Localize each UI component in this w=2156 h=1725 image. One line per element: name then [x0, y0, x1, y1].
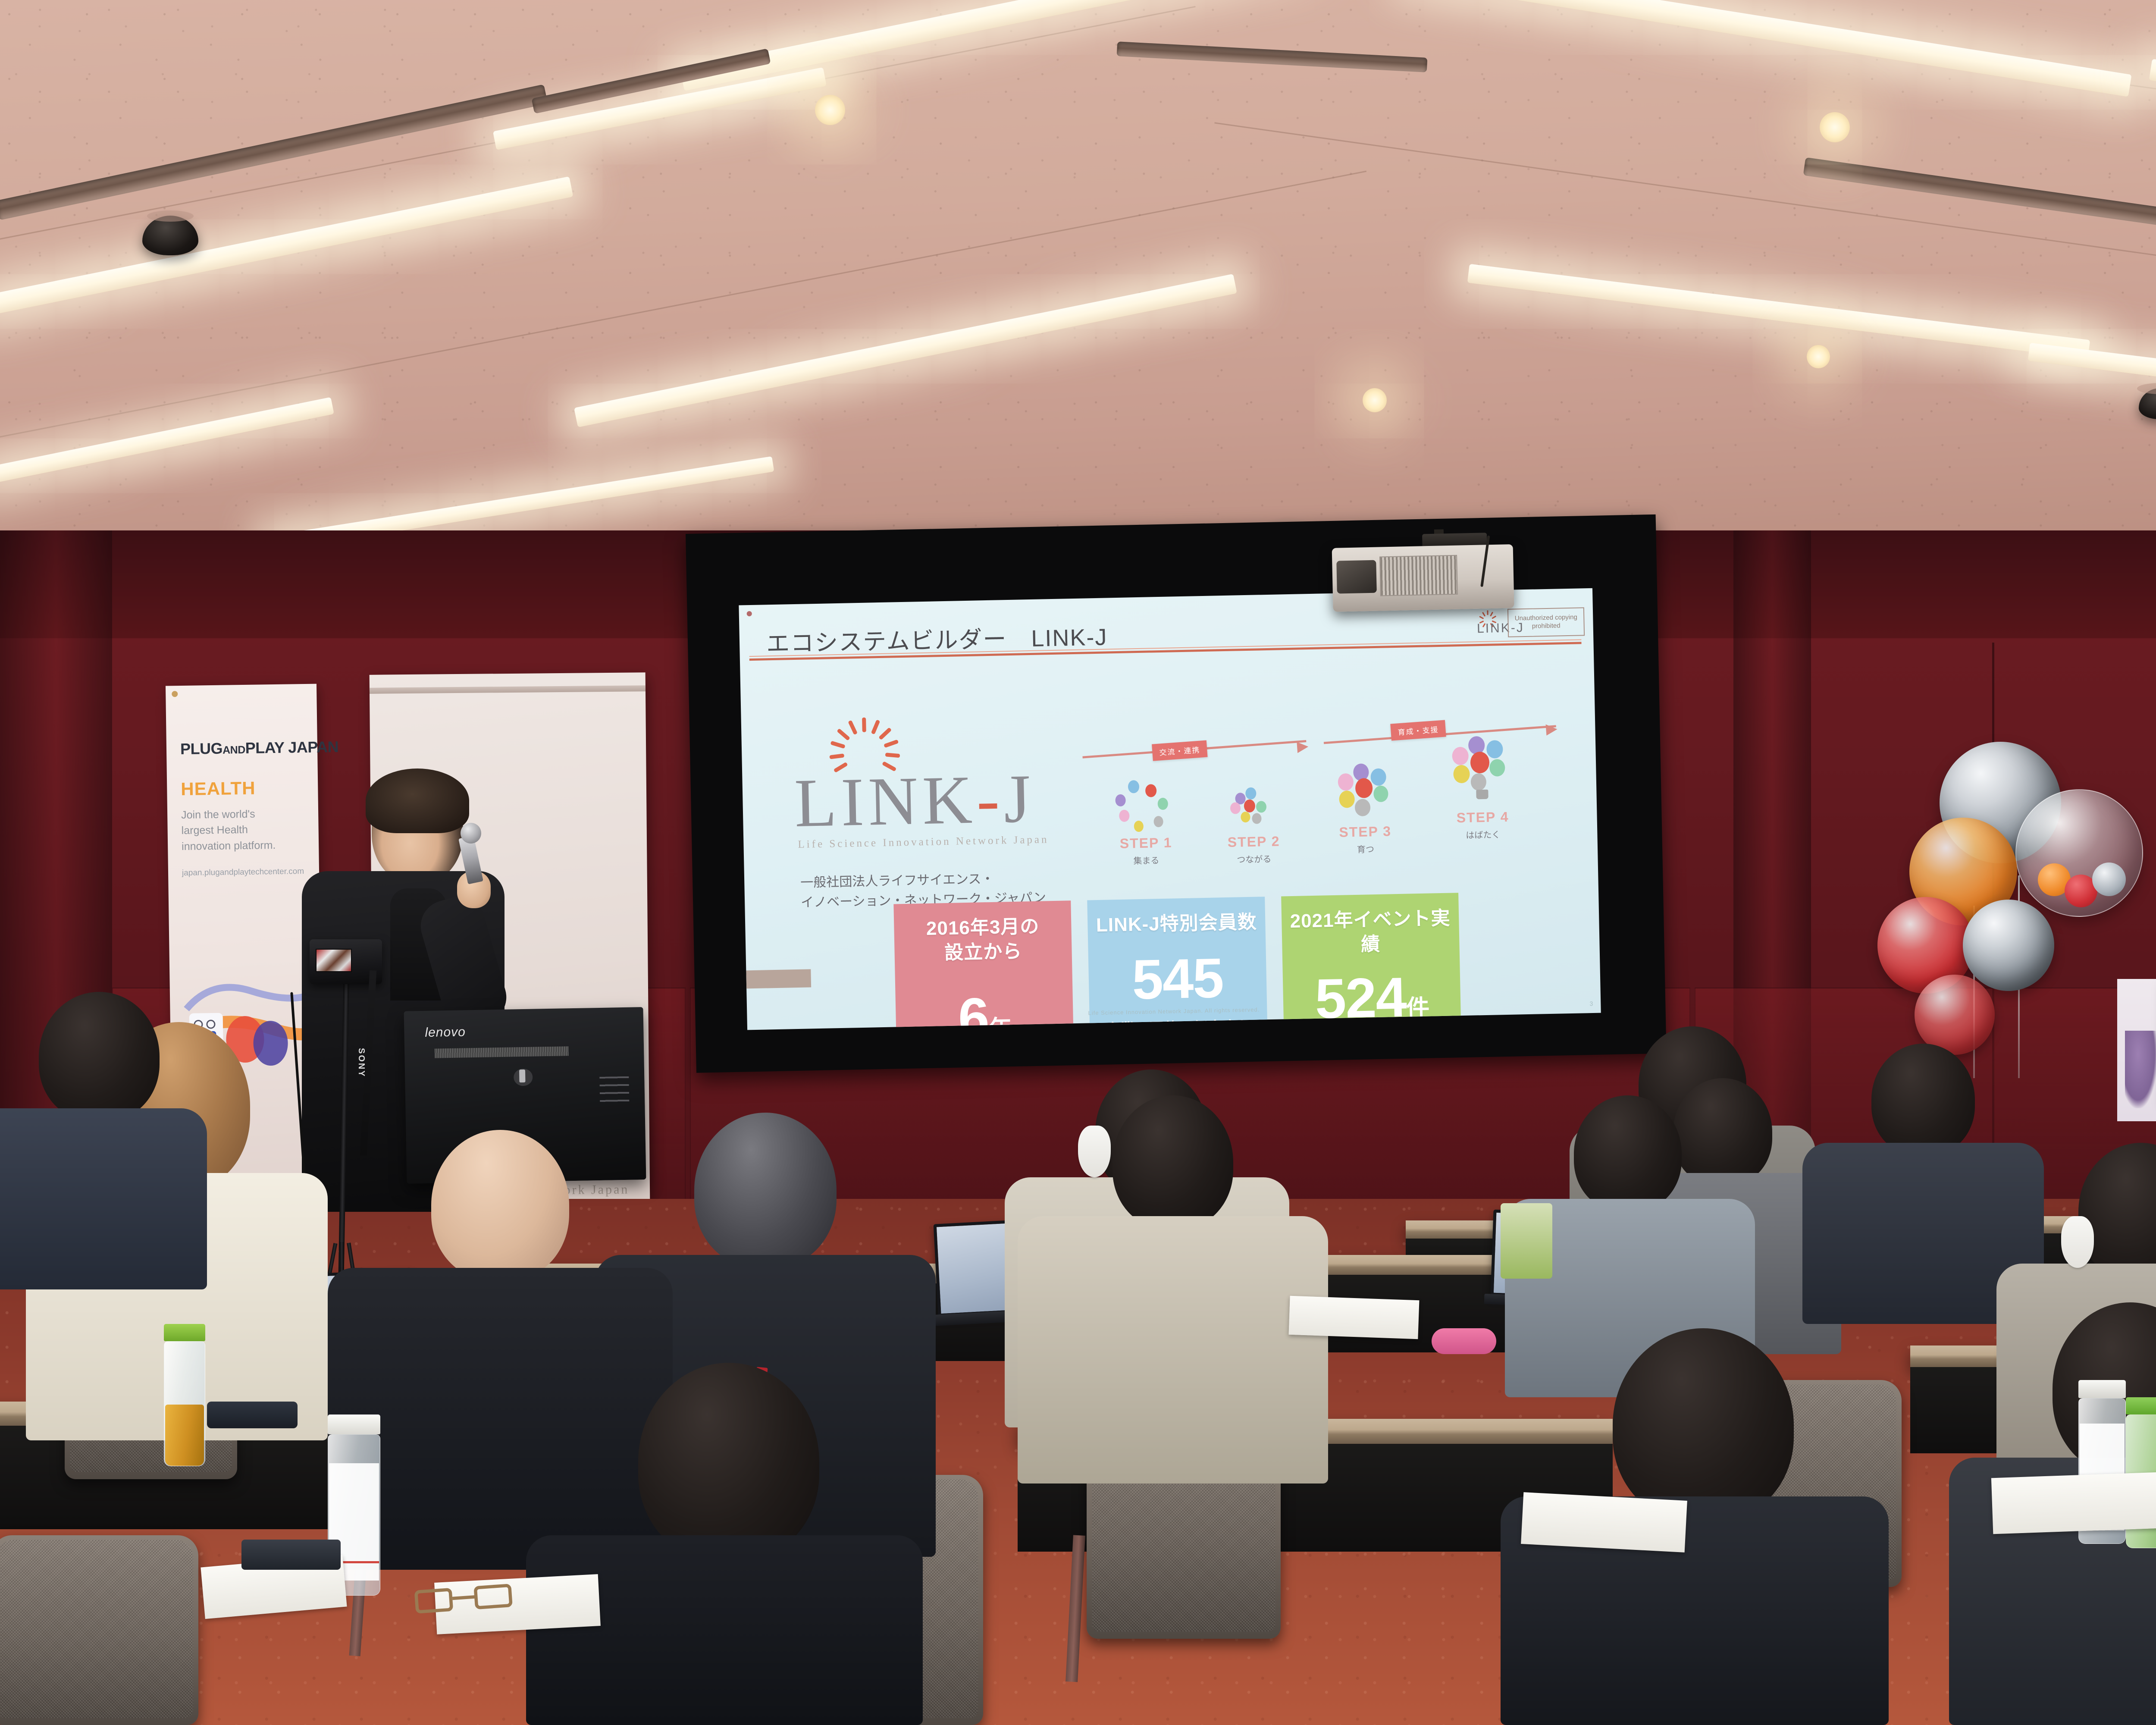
ceiling-downlight: [1363, 388, 1387, 412]
stat-3-value: 524件: [1288, 968, 1456, 1028]
step-1-balloons-icon: [1108, 778, 1183, 836]
step-3-jp: 育つ: [1314, 841, 1418, 856]
monitor-vent-band: [435, 1046, 568, 1058]
step-2-balloons-icon: [1229, 787, 1277, 834]
chair: [0, 1535, 198, 1725]
step-arrow-head: [1297, 741, 1309, 753]
step-4-label: STEP 4: [1429, 809, 1537, 827]
step-4-hot-air-balloon-icon: [1447, 735, 1517, 810]
beverage-can: [1501, 1203, 1552, 1279]
bottle-cap: [164, 1324, 205, 1341]
ppj-banner-tagline: Join the world's largest Health innovati…: [181, 806, 302, 854]
handout-paper: [1521, 1492, 1687, 1552]
ceiling: [0, 0, 2156, 569]
stat-1-value: 6年: [900, 988, 1069, 1030]
stat-3-head: 2021年イベント実績: [1286, 906, 1454, 958]
slide-page-number: 3: [1589, 1000, 1593, 1007]
step-group-3: STEP 3 育つ: [1312, 762, 1417, 856]
projector-lens: [1336, 560, 1377, 594]
tea-bottle: [164, 1324, 205, 1466]
lenovo-logo: lenovo: [425, 1025, 466, 1040]
step-1-label: STEP 1: [1092, 834, 1200, 852]
step-1-jp: 集まる: [1092, 853, 1200, 867]
presentation-slide: エコシステムビルダー LINK-J LINK-J: [739, 588, 1601, 1030]
slide-linkj-logo: LINK-J Life Science Innovation Network J…: [793, 696, 1064, 913]
stat-2-value: 545: [1094, 949, 1262, 1009]
conference-room-photo: 非常 電気設備 取扱注意 エコシステムビルダー LINK-J: [0, 0, 2156, 1725]
slide-left-tab: [746, 969, 811, 988]
clear-balloon-with-inner: [2015, 789, 2143, 917]
bottle-liquid: [165, 1405, 204, 1466]
bottle-cap: [328, 1414, 380, 1434]
ceiling-downlight: [1820, 112, 1850, 142]
ppj-banner-url: japan.plugandplaytechcenter.com: [182, 867, 304, 878]
side-poster: [2117, 979, 2156, 1121]
handout-paper: [1991, 1472, 2156, 1534]
stat-2-foot: 企業・団体・個人含む: [1095, 1015, 1262, 1030]
slide-corner-dot: [747, 611, 752, 616]
step-2-jp: つながる: [1204, 851, 1304, 866]
step-3-label: STEP 3: [1313, 823, 1417, 841]
step-group-1: STEP 1 集まる: [1091, 778, 1200, 867]
step-group-2: STEP 2 つながる: [1203, 786, 1304, 866]
microphone-head: [461, 823, 481, 844]
projector-vent-grille: [1379, 555, 1458, 596]
ppj-banner-brand: PLUGANDPLAY JAPAN: [180, 738, 339, 758]
camera-liveview-screen: [316, 949, 352, 972]
ceiling-downlight: [815, 95, 845, 125]
banner-pin: [172, 691, 178, 697]
bottle-cap: [2078, 1380, 2126, 1398]
handout-paper: [1289, 1296, 1420, 1339]
linkj-wordmark: LINK-J: [794, 764, 1062, 837]
presenter-hair: [366, 768, 469, 833]
step-arrow-tag-1: 交流・連携: [1152, 740, 1207, 761]
stat-card-events: 2021年イベント実績 524件 うちオンライン383件: [1281, 893, 1462, 1030]
step-3-balloons-icon: [1332, 763, 1398, 825]
ceiling-downlight: [1807, 345, 1830, 368]
banner-top-rail: [370, 685, 646, 694]
linkj-sunburst-icon: [831, 699, 897, 765]
inner-silver-balloon: [2092, 862, 2126, 896]
pouch-on-desk: [241, 1540, 341, 1570]
bottle-cap: [2126, 1397, 2156, 1414]
sony-brand-text: SONY: [356, 1048, 366, 1078]
ceiling-projector: [1332, 532, 1529, 618]
stat-2-head: LINK-J特別会員数: [1093, 910, 1260, 938]
stat-card-years: 2016年3月の 設立から 6年: [893, 900, 1075, 1030]
monitor-knob[interactable]: [514, 1069, 533, 1086]
growth-steps-diagram: 交流・連携 育成・支援 STEP 1 集ま: [1081, 696, 1568, 887]
ceiling-texture: [0, 0, 2156, 569]
ppj-banner-vertical: HEALTH: [181, 778, 256, 800]
step-4-jp: はばたく: [1429, 827, 1537, 842]
step-group-4: STEP 4 はばたく: [1427, 735, 1537, 842]
monitor-ports: [599, 1076, 629, 1104]
step-2-label: STEP 2: [1204, 833, 1304, 851]
red-balloon: [1915, 975, 1995, 1055]
pink-item-on-desk: [1432, 1328, 1496, 1354]
stat-1-head: 2016年3月の 設立から: [899, 913, 1067, 966]
silver-balloon: [1963, 900, 2054, 991]
step-arrow-head: [1546, 724, 1558, 736]
bottle-body: [164, 1341, 205, 1466]
smartphone-on-desk[interactable]: [207, 1402, 298, 1428]
